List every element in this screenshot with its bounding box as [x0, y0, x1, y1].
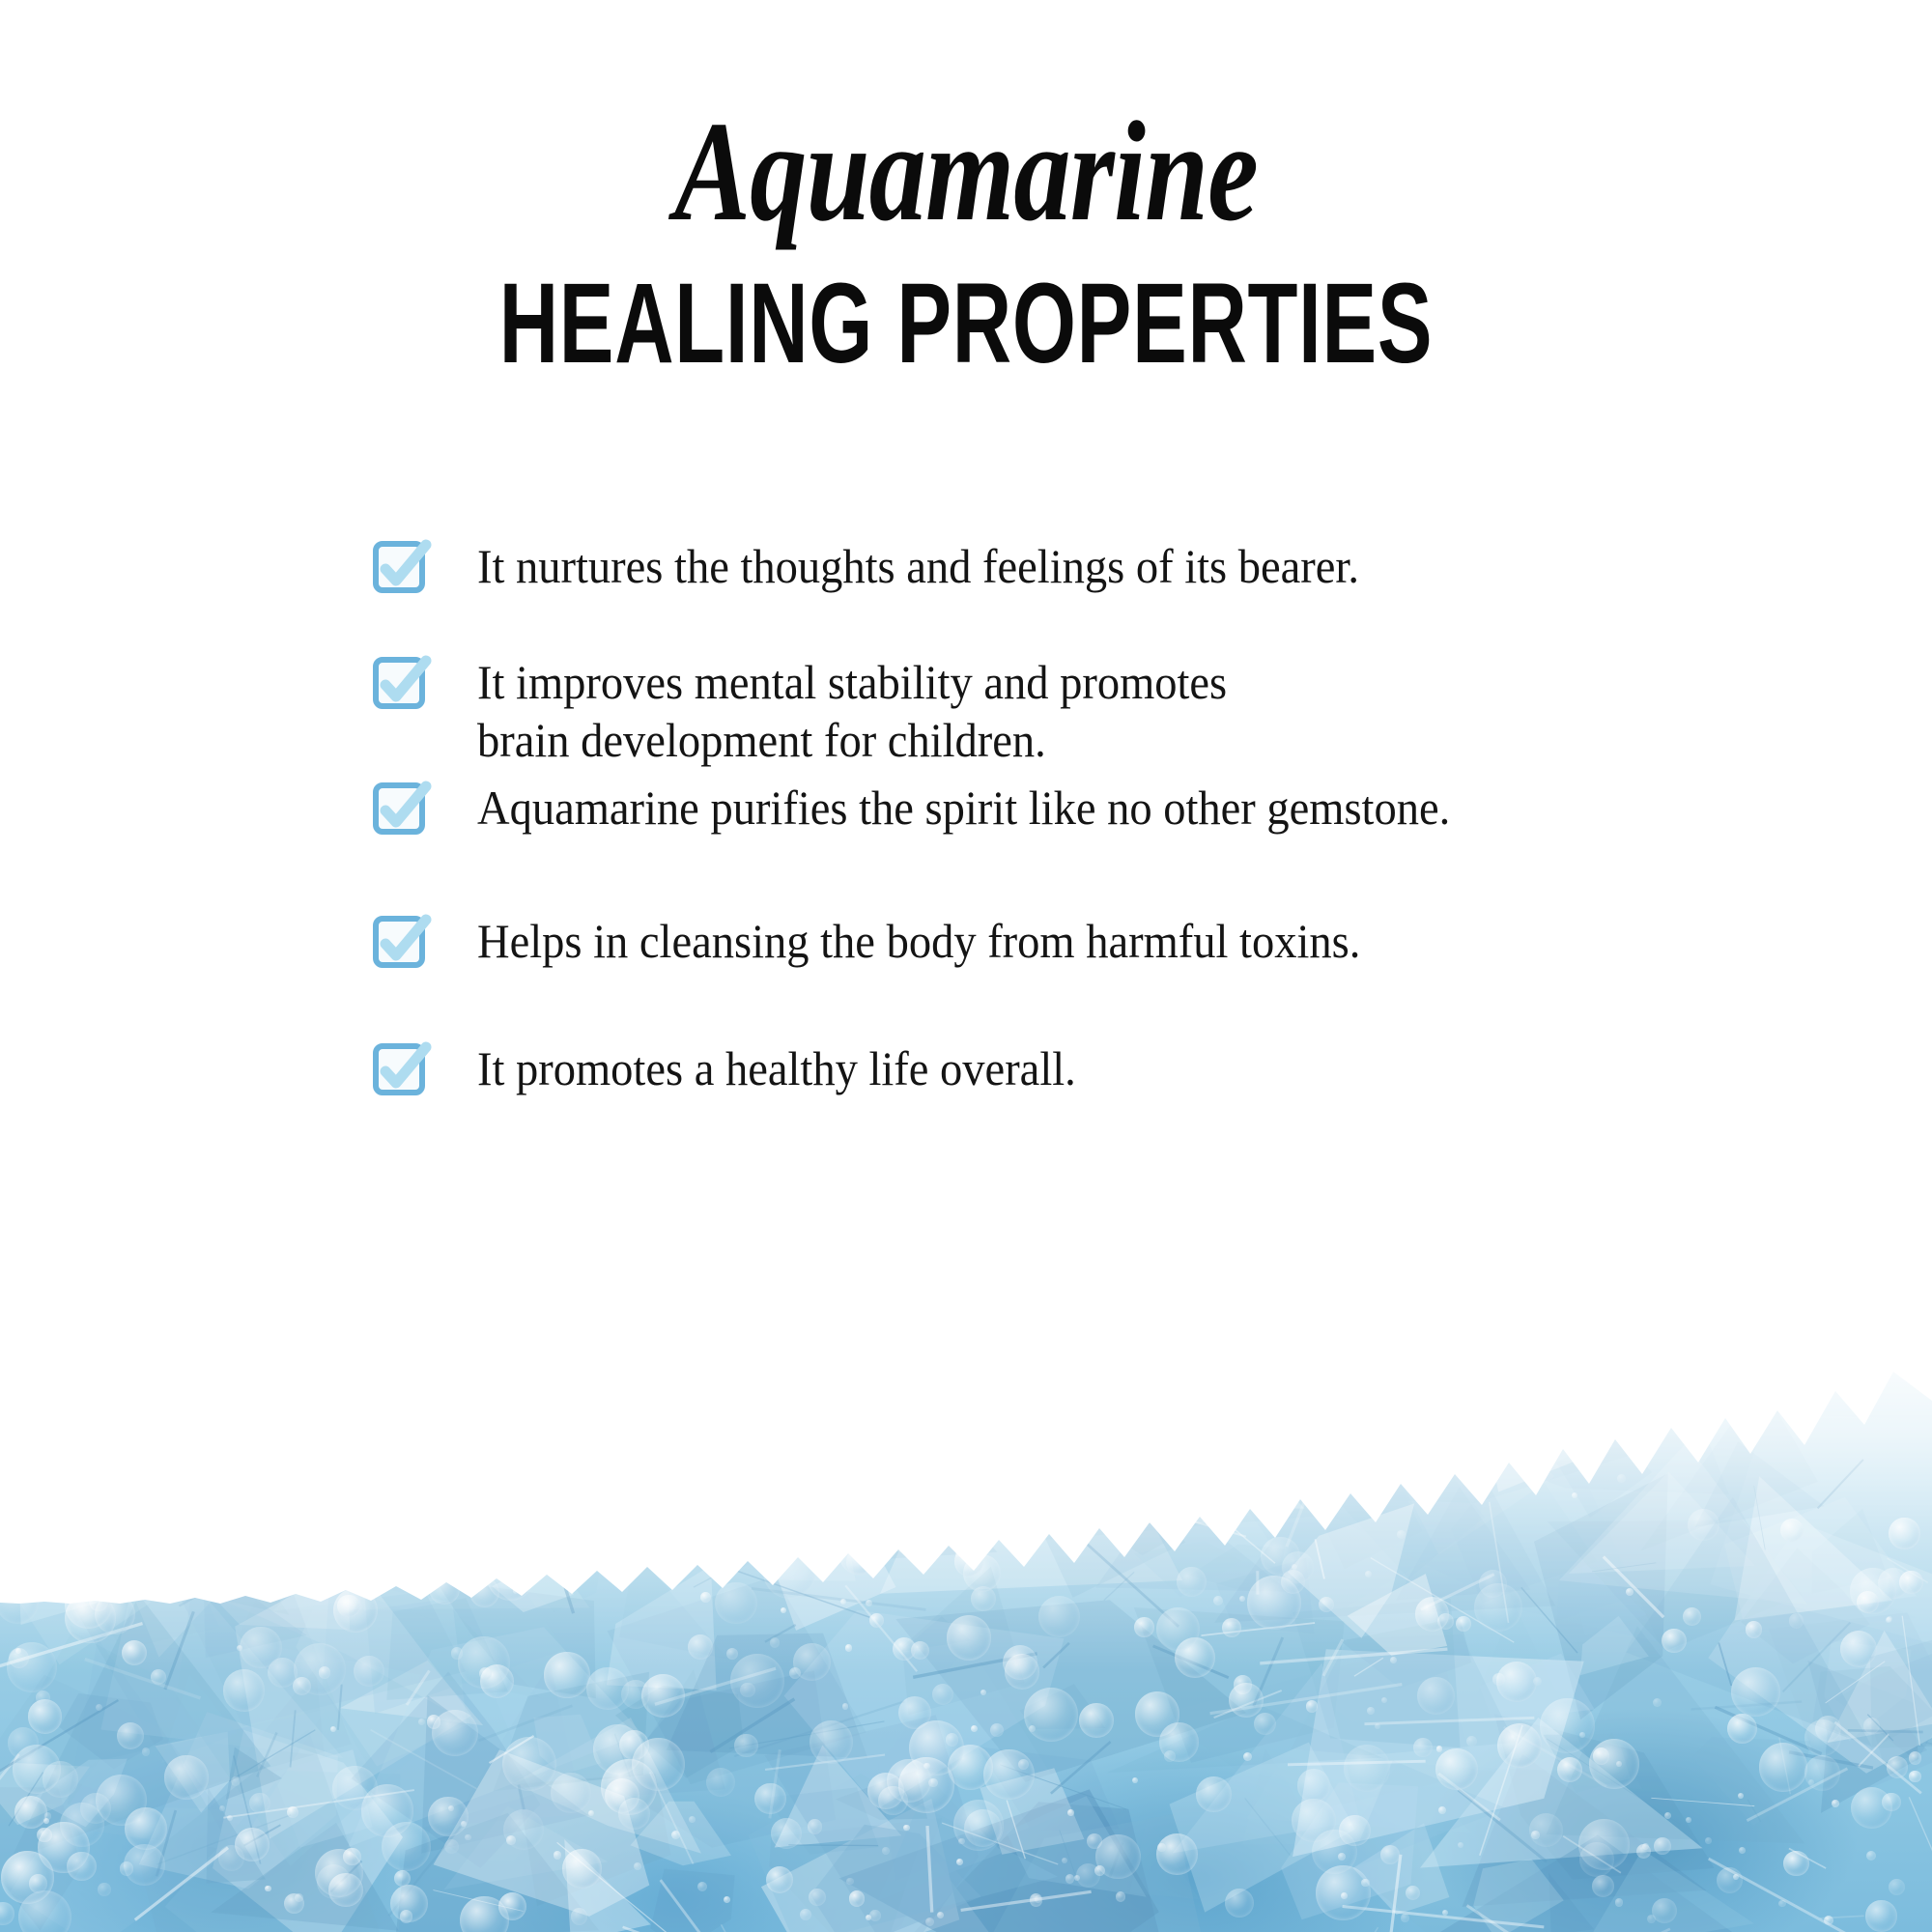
ice-bubble: [1840, 1631, 1877, 1667]
ice-bubble: [332, 1766, 377, 1810]
ice-bubble: [706, 1768, 735, 1797]
ice-bubble: [1909, 1771, 1920, 1782]
ice-bubble: [219, 1805, 225, 1811]
ice-bubble: [697, 1882, 707, 1891]
ice-bubble: [227, 1815, 233, 1821]
ice-bubble: [151, 1669, 166, 1685]
ice-bubble: [887, 1759, 930, 1803]
ice-top-silhouette-mask: [0, 1256, 1932, 1604]
ice-bubble: [1361, 1879, 1369, 1887]
header: Aquamarine HEALING PROPERTIES: [0, 0, 1932, 381]
ice-bubble: [808, 1819, 822, 1833]
ice-bubble: [846, 1878, 854, 1886]
ice-bubble: [866, 1915, 871, 1920]
checkbox-checked-icon: [373, 916, 429, 972]
ice-bubble: [947, 1615, 991, 1660]
ice-bubble: [1731, 1667, 1780, 1717]
ice-bubble: [1804, 1755, 1840, 1791]
list-item-label: Aquamarine purifies the spirit like no o…: [477, 779, 1450, 837]
ice-bubble: [754, 1783, 785, 1814]
ice-bubble: [554, 1851, 561, 1859]
ice-bubble: [1727, 1714, 1757, 1744]
ice-bubble: [223, 1669, 265, 1711]
ice-bubble: [810, 1720, 853, 1764]
page-subtitle: HEALING PROPERTIES: [270, 267, 1662, 381]
ice-bubble: [809, 1889, 826, 1906]
checkbox-checked-icon: [373, 657, 429, 713]
ice-bubble: [845, 1644, 852, 1651]
ice-bubble: [8, 1727, 40, 1759]
ice-bubble: [1229, 1683, 1264, 1718]
ice-bubble: [571, 1908, 587, 1924]
list-item: Helps in cleansing the body from harmful…: [373, 912, 1427, 972]
ice-bubble: [1435, 1748, 1477, 1790]
ice-bubble: [1886, 1617, 1891, 1623]
ice-bubble: [1824, 1916, 1833, 1925]
ice-bubble: [1367, 1707, 1375, 1715]
ice-bubble: [1759, 1743, 1807, 1791]
ice-bubble: [903, 1825, 909, 1831]
ice-bubble: [428, 1797, 469, 1837]
ice-bubble: [1789, 1613, 1804, 1629]
ice-bubble: [432, 1710, 478, 1756]
ice-bubble: [1196, 1776, 1232, 1812]
ice-bubble: [1531, 1831, 1540, 1839]
ice-bubble: [1579, 1842, 1614, 1877]
ice-bubble: [1339, 1815, 1370, 1846]
ice-bubble: [479, 1667, 492, 1680]
ice-bubble: [1593, 1747, 1610, 1765]
ice-bubble: [1738, 1793, 1744, 1799]
ice-bubble: [562, 1849, 601, 1888]
ice-bubble: [1338, 1853, 1346, 1861]
ice-bubble: [1739, 1847, 1746, 1854]
ice-bubble: [730, 1654, 785, 1709]
ice-bubble: [218, 1845, 244, 1871]
ice-bubble: [983, 1749, 1034, 1800]
ice-bubble: [231, 1776, 241, 1786]
ice-bubble: [800, 1909, 811, 1920]
ice-bubble: [1297, 1769, 1330, 1802]
ice-bubble: [724, 1896, 730, 1903]
ice-bubble: [1076, 1863, 1100, 1888]
list-item-label: It promotes a healthy life overall.: [477, 1039, 1076, 1097]
ice-bubble: [882, 1847, 890, 1855]
ice-bubble: [1456, 1616, 1471, 1632]
ice-bubble: [465, 1834, 471, 1841]
ice-bubble: [330, 1726, 336, 1732]
ice-bubble: [551, 1773, 591, 1813]
ice-bubble: [1406, 1886, 1420, 1900]
ice-bubble: [1390, 1657, 1397, 1663]
list-item-label: Helps in cleansing the body from harmful…: [477, 912, 1360, 970]
ice-bubble: [1438, 1806, 1446, 1814]
ice-bubble: [343, 1848, 360, 1865]
ice-bubble: [1222, 1618, 1241, 1637]
ice-bubble: [1683, 1607, 1701, 1626]
poster: Aquamarine HEALING PROPERTIES It nurture…: [0, 0, 1932, 1932]
ice-bubble: [1909, 1751, 1922, 1765]
ice-bubble: [319, 1666, 330, 1678]
checkbox-checked-icon: [373, 541, 429, 597]
ice-bubble: [1442, 1910, 1448, 1916]
list-item: It improves mental stability and promote…: [373, 653, 1284, 769]
ice-bubble: [849, 1890, 866, 1907]
ice-bubble: [869, 1613, 884, 1628]
ice-bubble: [96, 1775, 147, 1826]
ice-bubble: [586, 1667, 629, 1710]
checkbox-checked-icon: [373, 782, 429, 838]
checkbox-checked-icon: [373, 1043, 429, 1099]
ice-bubble: [1615, 1898, 1623, 1906]
ice-bubble: [1344, 1745, 1391, 1792]
ice-bubble: [418, 1719, 425, 1725]
list-item: It promotes a healthy life overall.: [373, 1039, 1121, 1099]
ice-bubble: [1254, 1713, 1276, 1735]
ice-bubble: [164, 1755, 208, 1799]
ice-bubble: [1024, 1688, 1078, 1742]
ice-bubble: [1705, 1837, 1712, 1844]
ice-bubble: [502, 1737, 556, 1791]
ice-bubble: [544, 1652, 589, 1697]
ice-bubble: [766, 1866, 793, 1893]
ice-bubble: [1067, 1809, 1074, 1816]
ice-bubble: [1157, 1843, 1165, 1851]
ice-bubble: [956, 1859, 963, 1865]
list-item-label: It improves mental stability and promote…: [477, 653, 1227, 769]
ice-bubble: [14, 1796, 47, 1829]
ice-bubble: [124, 1844, 165, 1886]
ice-bubble: [7, 1642, 57, 1692]
page-title: Aquamarine: [193, 100, 1739, 243]
list-item-label: It nurtures the thoughts and feelings of…: [477, 537, 1359, 595]
list-item: It nurtures the thoughts and feelings of…: [373, 537, 1426, 597]
ice-bubble: [1225, 1889, 1254, 1918]
ice-bubble: [1652, 1898, 1677, 1923]
ice-bubble: [400, 1910, 413, 1923]
ice-bubble: [1746, 1621, 1763, 1638]
ice-bubble: [1065, 1874, 1075, 1884]
ice-bubble: [354, 1656, 384, 1687]
ice-cubes-decoration: [0, 1256, 1932, 1932]
ice-bubble: [688, 1634, 713, 1660]
ice-bubble: [43, 1761, 78, 1797]
ice-bubble: [44, 1812, 51, 1819]
ice-bubble: [770, 1637, 780, 1647]
ice-bubble: [1243, 1752, 1252, 1761]
ice-bubble: [734, 1734, 757, 1757]
ice-bubble: [1654, 1837, 1671, 1855]
ice-bubble: [1134, 1617, 1153, 1636]
ice-bubble: [1778, 1900, 1785, 1907]
ice-bubble: [142, 1747, 150, 1755]
ice-bubble: [1882, 1793, 1901, 1812]
ice-bubble: [1156, 1607, 1200, 1651]
ice-bubble: [1865, 1900, 1896, 1931]
ice-bubble: [980, 1690, 986, 1695]
ice-bubble: [1417, 1677, 1455, 1715]
ice-bubble: [1035, 1895, 1041, 1902]
ice-bubble: [869, 1910, 881, 1921]
ice-bubble: [1497, 1723, 1542, 1768]
ice-bubble: [284, 1893, 304, 1914]
ice-bubble: [1401, 1914, 1409, 1922]
ice-bubble: [1458, 1842, 1463, 1848]
ice-bubble: [36, 1690, 50, 1705]
ice-bubble: [1662, 1629, 1686, 1653]
ice-bubble: [932, 1684, 953, 1705]
list-item: Aquamarine purifies the spirit like no o…: [373, 779, 1523, 838]
ice-bubble: [1887, 1756, 1909, 1778]
ice-bubble: [1156, 1833, 1198, 1875]
ice-bubble: [117, 1722, 144, 1749]
ice-bubble: [98, 1883, 110, 1895]
ice-bubble: [1, 1851, 54, 1904]
ice-bubble: [1341, 1892, 1348, 1899]
ice-bubble: [1540, 1698, 1595, 1753]
ice-bubble: [588, 1810, 594, 1816]
ice-bubble: [958, 1838, 964, 1844]
ice-bubble: [1815, 1716, 1841, 1742]
ice-bubble: [1832, 1800, 1839, 1807]
ice-bubble: [1079, 1703, 1113, 1737]
ice-bubble: [893, 1637, 916, 1661]
ice-bubble: [1003, 1645, 1037, 1680]
ice-bubble: [240, 1627, 281, 1668]
ice-bubble: [1783, 1851, 1808, 1876]
ice-bubble: [793, 1643, 831, 1681]
ice-bubble: [1029, 1725, 1036, 1732]
